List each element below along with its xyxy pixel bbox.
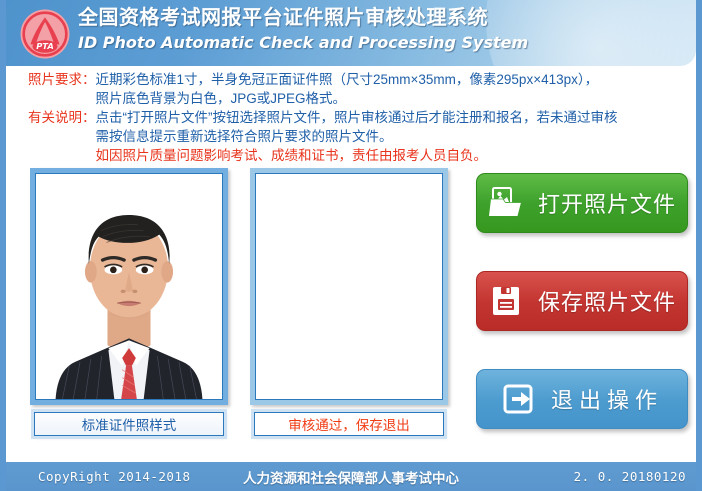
save-disk-icon bbox=[488, 284, 524, 318]
open-folder-photo-icon bbox=[488, 186, 524, 220]
app-title-en: ID Photo Automatic Check and Processing … bbox=[78, 35, 528, 51]
result-photo-panel bbox=[250, 168, 448, 405]
save-photo-file-label: 保存照片文件 bbox=[538, 285, 676, 317]
exit-operation-label: 退出操作 bbox=[551, 383, 663, 415]
notes-label: 有关说明： bbox=[28, 108, 96, 127]
app-title-block: 全国资格考试网报平台证件照片审核处理系统 ID Photo Automatic … bbox=[78, 8, 528, 51]
sample-portrait-image bbox=[36, 174, 222, 399]
requirement-row: 照片要求： 近期彩色标准1寸，半身免冠正面证件照（尺寸25mm×35mm，像素2… bbox=[6, 70, 696, 108]
requirement-line-1: 近期彩色标准1寸，半身免冠正面证件照（尺寸25mm×35mm，像素295px×4… bbox=[96, 70, 697, 89]
open-photo-file-label: 打开照片文件 bbox=[538, 187, 676, 219]
notes-row: 有关说明： 点击“打开照片文件”按钮选择照片文件，照片审核通过后才能注册和报名，… bbox=[6, 108, 696, 165]
app-title-cn: 全国资格考试网报平台证件照片审核处理系统 bbox=[78, 8, 528, 28]
application-window: PTA 全国资格考试网报平台证件照片审核处理系统 ID Photo Automa… bbox=[0, 0, 702, 491]
exit-operation-button[interactable]: 退出操作 bbox=[476, 369, 688, 429]
pta-logo-icon: PTA bbox=[19, 8, 71, 60]
footer-version: 2. 0. 20180120 bbox=[574, 469, 686, 484]
requirement-body: 近期彩色标准1寸，半身免冠正面证件照（尺寸25mm×35mm，像素295px×4… bbox=[96, 70, 697, 108]
notes-line-2: 需按信息提示重新选择符合照片要求的照片文件。 bbox=[96, 127, 697, 146]
app-header: PTA 全国资格考试网报平台证件照片审核处理系统 ID Photo Automa… bbox=[6, 0, 696, 66]
notes-line-3: 如因照片质量问题影响考试、成绩和证书，责任由报考人员自负。 bbox=[96, 146, 697, 165]
exit-arrow-icon bbox=[501, 382, 537, 416]
sample-photo-inner bbox=[35, 173, 223, 400]
svg-text:PTA: PTA bbox=[36, 41, 54, 51]
sample-photo-panel bbox=[30, 168, 228, 405]
result-status-caption: 审核通过，保存退出 bbox=[254, 412, 444, 436]
instructions-block: 照片要求： 近期彩色标准1寸，半身免冠正面证件照（尺寸25mm×35mm，像素2… bbox=[6, 70, 696, 165]
requirement-line-2: 照片底色背景为白色，JPG或JPEG格式。 bbox=[96, 89, 697, 108]
save-photo-file-button[interactable]: 保存照片文件 bbox=[476, 271, 688, 331]
open-photo-file-button[interactable]: 打开照片文件 bbox=[476, 173, 688, 233]
requirement-label: 照片要求： bbox=[28, 70, 96, 89]
notes-body: 点击“打开照片文件”按钮选择照片文件，照片审核通过后才能注册和报名，若未通过审核… bbox=[96, 108, 697, 165]
notes-line-1: 点击“打开照片文件”按钮选择照片文件，照片审核通过后才能注册和报名，若未通过审核 bbox=[96, 108, 697, 127]
result-photo-inner bbox=[255, 173, 443, 400]
app-footer: CopyRight 2014-2018 人力资源和社会保障部人事考试中心 2. … bbox=[0, 460, 702, 491]
sample-photo-caption: 标准证件照样式 bbox=[34, 412, 224, 436]
